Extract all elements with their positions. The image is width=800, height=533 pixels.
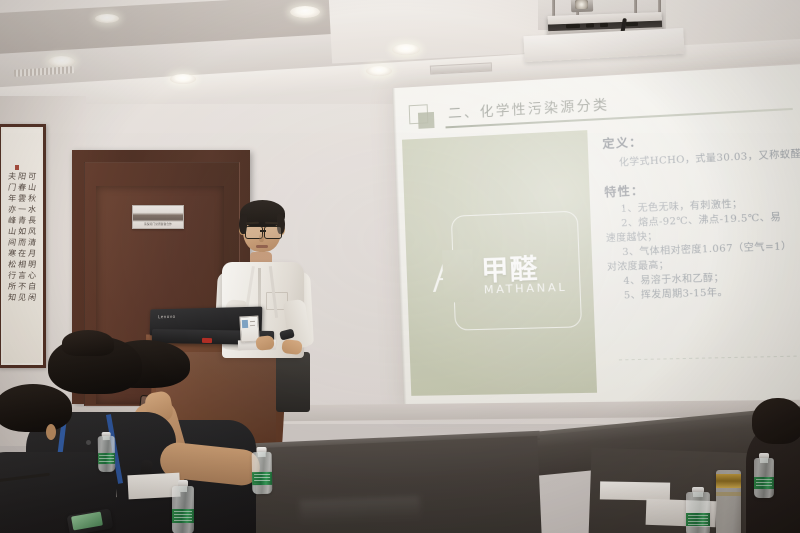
shirt-button — [86, 440, 91, 445]
badge-photo — [242, 320, 248, 328]
door-sign-text: 请保持门常闭谢谢合作 — [144, 222, 172, 226]
badge-text-line — [250, 321, 255, 323]
slide-title-row: 二、化学性污染源分类 — [408, 78, 786, 130]
slide-image-panel: A 甲醛 MATHANAL — [402, 130, 597, 396]
calligraphy-scroll-frame: 夫门年 亦峰山 间寒松 行所知 阳春雲 一青如 而在相 言不见 可山秋 水長风 … — [0, 124, 46, 368]
calligraphy-seal — [15, 165, 19, 170]
laptop-brand-label: Lenovo — [158, 314, 176, 319]
badge-text-line — [250, 325, 255, 327]
downlight-icon — [95, 14, 119, 23]
bottle-label-text — [99, 455, 113, 463]
presenter-nose — [259, 234, 264, 242]
presenter-glasses-right-lens — [264, 226, 282, 239]
downlight-icon — [290, 6, 320, 18]
slide-title: 二、化学性污染源分类 — [448, 93, 610, 122]
presenter-mouth — [256, 245, 268, 248]
door-sign-plate: 请保持门常闭谢谢合作 — [132, 205, 184, 229]
water-bottle[interactable] — [252, 452, 273, 494]
downlight-icon — [366, 66, 392, 76]
slide-title-square-outline-icon — [409, 104, 429, 124]
bottle-label-text — [756, 479, 773, 488]
bottle-label-text — [174, 511, 192, 522]
downlight-icon — [392, 44, 420, 55]
presenter-right-hand — [281, 339, 303, 355]
bottle-label-text — [688, 515, 708, 525]
water-bottle[interactable] — [686, 492, 710, 533]
table-reflection — [300, 496, 421, 524]
slide-footer-divider — [619, 355, 800, 360]
downlight-icon — [170, 74, 196, 84]
water-bottle[interactable] — [98, 436, 116, 472]
projection-screen: 二、化学性污染源分类 A 甲醛 MATHANAL 定义： 化学式HCHO，式量3… — [392, 63, 800, 410]
audience-member-1-ear — [46, 424, 56, 440]
presenter-glasses-bridge — [260, 230, 266, 232]
calligraphy-paper: 夫门年 亦峰山 间寒松 行所知 阳春雲 一青如 而在相 言不见 可山秋 水長风 … — [3, 129, 41, 363]
paper-stack[interactable] — [600, 481, 670, 500]
logo-english-text: MATHANAL — [484, 281, 568, 297]
audience-member-4-head — [752, 398, 800, 444]
water-bottle[interactable] — [754, 458, 774, 498]
projector-lens — [575, 0, 588, 9]
presenter-trousers — [276, 352, 310, 412]
tumbler-gold-band — [716, 492, 741, 496]
slide-title-square-fill-icon — [418, 111, 435, 128]
slide-text-column: 定义： 化学式HCHO，式量30.03，又称蚁醛 特性： 1、无色无味，有刺激性… — [602, 125, 800, 304]
bottle-label-text — [254, 474, 271, 484]
audience-member-1-hair — [0, 384, 72, 432]
presentation-photo-scene: 夫门年 亦峰山 间寒松 行所知 阳春雲 一青如 而在相 言不见 可山秋 水長风 … — [0, 0, 800, 533]
water-bottle[interactable] — [172, 486, 194, 533]
logo-a-mask — [442, 249, 474, 302]
laptop-red-sticker — [202, 338, 212, 343]
audience-member-2-hair-top — [62, 330, 114, 356]
tumbler-gold-band — [716, 474, 741, 488]
